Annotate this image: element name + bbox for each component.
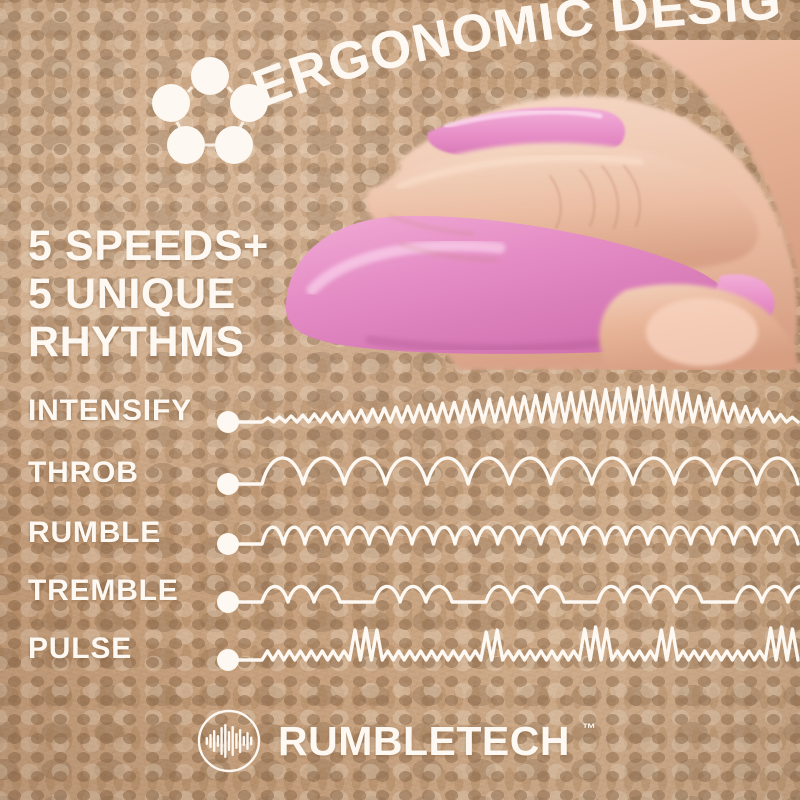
feature-copy-line-3: RHYTHMS (28, 318, 269, 366)
feature-copy-line-1: 5 SPEEDS+ (28, 222, 269, 270)
rhythm-row-throb: THROB (0, 444, 800, 502)
brand-name: RUMBLETECH ™ (278, 718, 570, 765)
rhythm-wave-pulse (210, 620, 800, 678)
product-marketing-image: ERGONOMIC DESIGN 5 SPEEDS+ 5 UNIQUE RHYT… (0, 0, 800, 800)
rhythm-row-rumble: RUMBLE (0, 504, 800, 562)
headline: ERGONOMIC DESIGN (0, 0, 800, 200)
rhythm-label-throb: THROB (28, 444, 139, 502)
rhythm-wave-rumble (210, 504, 800, 562)
rhythm-wave-tremble (210, 562, 800, 620)
brand-lockup: RUMBLETECH ™ (196, 708, 570, 774)
circular-waveform-equalizer-icon (196, 708, 262, 774)
brand-name-text: RUMBLETECH (278, 718, 570, 764)
rhythm-row-tremble: TREMBLE (0, 562, 800, 620)
rhythm-row-pulse: PULSE (0, 620, 800, 678)
rhythm-label-rumble: RUMBLE (28, 504, 161, 562)
rhythm-wave-intensify (210, 382, 800, 440)
rhythm-list: INTENSIFY THROB RUMBLE TREMBLE (0, 382, 800, 682)
headline-label: ERGONOMIC DESIGN (0, 0, 784, 119)
trademark-symbol: ™ (582, 720, 596, 736)
rhythm-row-intensify: INTENSIFY (0, 382, 800, 440)
rhythm-label-pulse: PULSE (28, 620, 132, 678)
headline-text: ERGONOMIC DESIGN (0, 0, 784, 119)
rhythm-wave-throb (210, 444, 800, 502)
feature-copy-line-2: 5 UNIQUE (28, 270, 269, 318)
rhythm-label-intensify: INTENSIFY (28, 382, 192, 440)
rhythm-label-tremble: TREMBLE (28, 562, 179, 620)
five-dot-pentagon-icon (152, 56, 268, 164)
feature-copy: 5 SPEEDS+ 5 UNIQUE RHYTHMS (28, 222, 269, 366)
